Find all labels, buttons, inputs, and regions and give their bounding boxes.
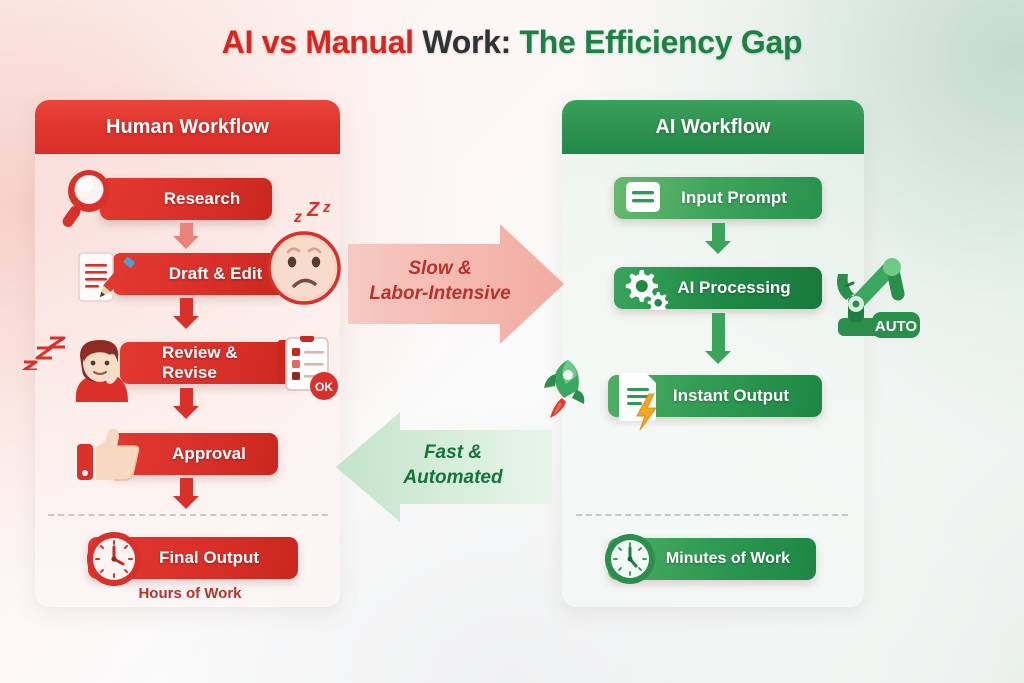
sleepy-face-icon: z Z z bbox=[266, 200, 344, 312]
infographic-canvas: AI vs Manual Work: The Efficiency Gap Hu… bbox=[0, 0, 1024, 683]
human-panel-header: Human Workflow bbox=[35, 100, 340, 154]
arrow-input-to-processing bbox=[705, 223, 731, 254]
document-bolt-icon bbox=[618, 370, 670, 430]
rocket-icon bbox=[538, 358, 590, 420]
title-segment-dark: Work: bbox=[414, 24, 520, 60]
ai-step-input-prompt-label: Input Prompt bbox=[639, 188, 797, 208]
auto-badge-label: AUTO bbox=[875, 318, 918, 335]
clock-icon-human bbox=[84, 530, 146, 588]
center-arrow-slow-label: Slow & Labor-Intensive bbox=[340, 256, 540, 306]
arrow-processing-to-output bbox=[705, 313, 731, 364]
human-panel-divider bbox=[48, 514, 328, 516]
human-panel-caption: Hours of Work bbox=[60, 585, 320, 602]
center-arrow-fast-left: Fast & Automated bbox=[336, 412, 552, 522]
title-segment-red: AI vs Manual bbox=[222, 24, 414, 60]
human-step-review-revise[interactable]: Review & Revise bbox=[120, 342, 302, 384]
clock-icon-ai bbox=[602, 532, 658, 586]
ai-panel-divider bbox=[576, 514, 848, 516]
human-step-research[interactable]: Research bbox=[100, 178, 272, 220]
checklist-ok-label: OK bbox=[315, 380, 333, 394]
center-arrow-slow-right: Slow & Labor-Intensive bbox=[348, 224, 564, 344]
svg-text:z: z bbox=[293, 209, 302, 226]
snoring-zzz-icon bbox=[20, 336, 66, 370]
svg-text:Z: Z bbox=[306, 200, 320, 221]
arrow-review-to-approval bbox=[173, 388, 199, 419]
human-step-draft-edit[interactable]: Draft & Edit bbox=[112, 253, 287, 295]
arrow-draft-to-review bbox=[173, 298, 199, 329]
center-arrow-fast-label: Fast & Automated bbox=[358, 440, 548, 490]
human-step-approval-label: Approval bbox=[130, 444, 256, 464]
human-step-draft-edit-label: Draft & Edit bbox=[127, 264, 273, 284]
input-card-icon bbox=[624, 180, 662, 216]
human-step-research-label: Research bbox=[122, 189, 251, 209]
page-title: AI vs Manual Work: The Efficiency Gap bbox=[0, 24, 1024, 61]
robot-arm-icon: AUTO bbox=[832, 252, 924, 344]
ai-panel-header: AI Workflow bbox=[562, 100, 864, 154]
magnifier-icon bbox=[62, 165, 122, 229]
thumbs-up-icon bbox=[76, 428, 142, 482]
checklist-icon: OK bbox=[276, 336, 340, 402]
svg-text:z: z bbox=[322, 200, 331, 216]
title-segment-green: The Efficiency Gap bbox=[520, 24, 803, 60]
person-thinking-icon bbox=[58, 336, 142, 402]
human-step-review-revise-label: Review & Revise bbox=[120, 343, 302, 383]
arrow-approval-to-final bbox=[173, 478, 199, 509]
document-pencil-icon bbox=[76, 250, 138, 306]
gears-icon bbox=[622, 266, 668, 310]
arrow-research-to-draft bbox=[173, 223, 199, 249]
